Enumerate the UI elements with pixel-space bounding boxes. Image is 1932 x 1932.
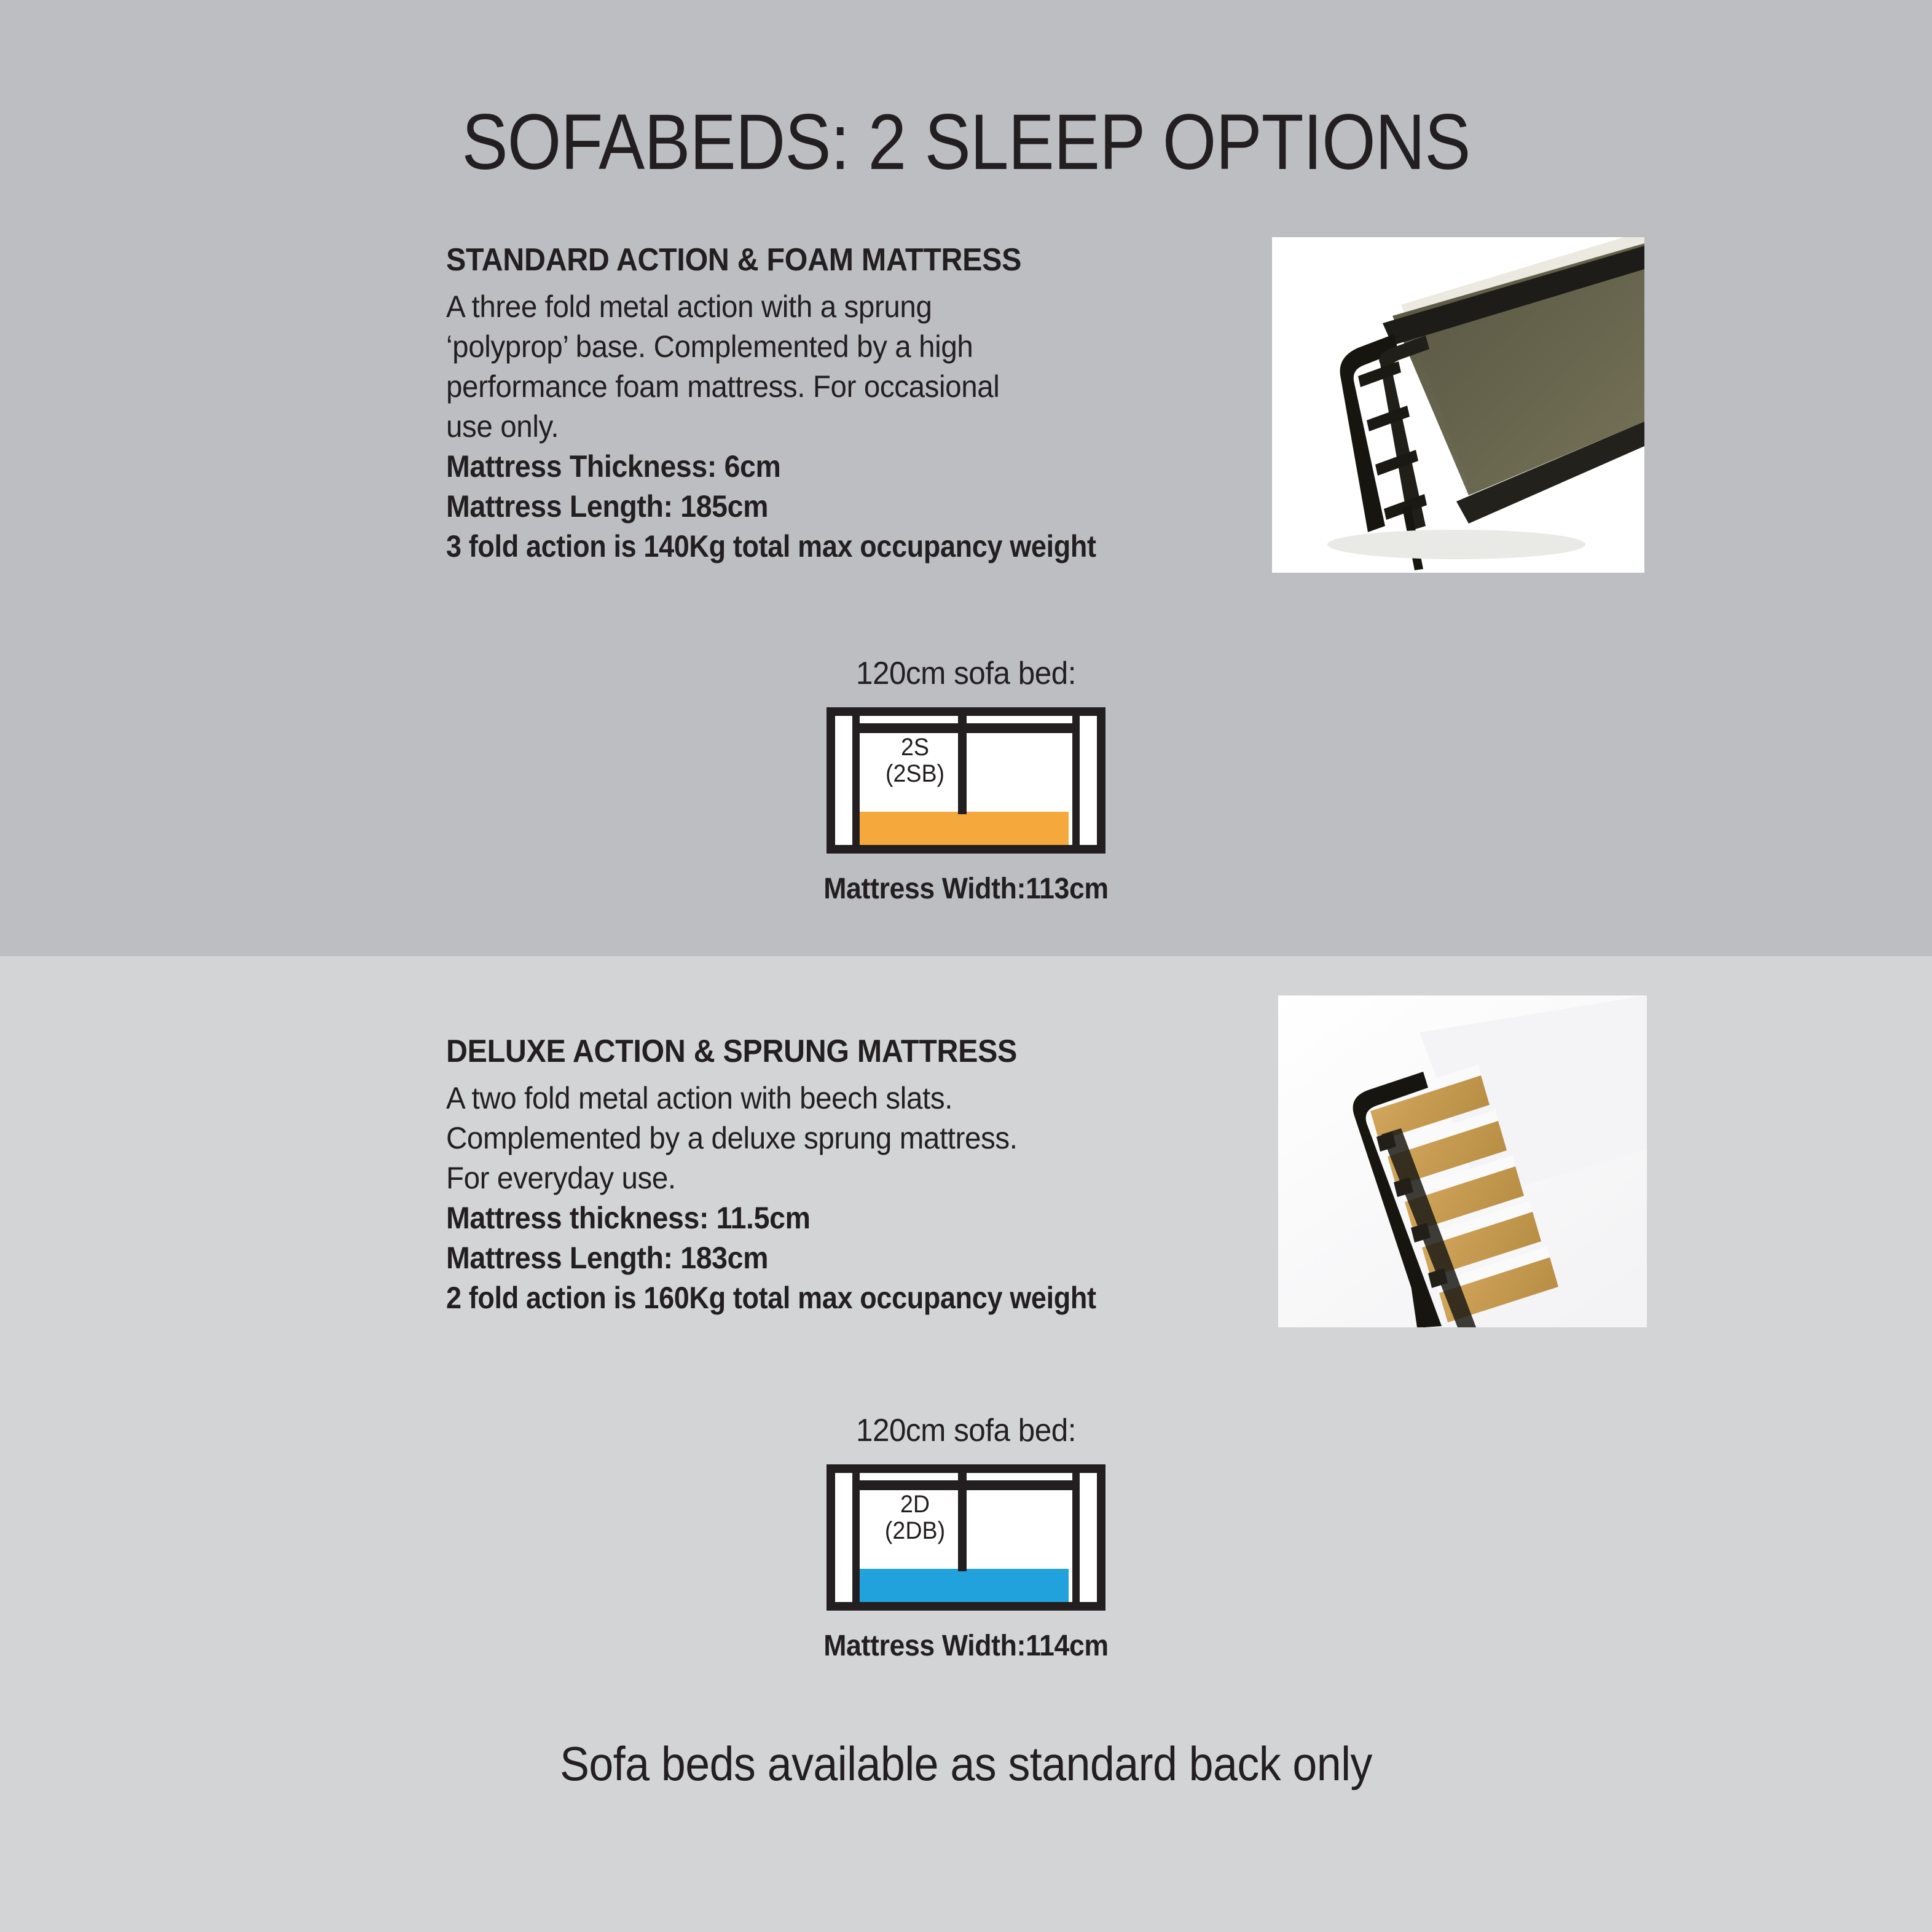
sofa-plan-deluxe: 2D (2DB)	[827, 1464, 1105, 1611]
mattress-width-label-standard: Mattress Width:113cm	[680, 872, 1252, 906]
deluxe-action-photo-illustration	[1278, 995, 1647, 1327]
section-deluxe-description: A two fold metal action with beech slats…	[446, 1078, 1223, 1198]
description-line: use only.	[446, 407, 1223, 447]
spec-mattress-length: Mattress Length: 183cm	[446, 1238, 1206, 1278]
page-title: SOFABEDS: 2 SLEEP OPTIONS	[116, 103, 1816, 182]
section-deluxe-text-block: DELUXE ACTION & SPRUNG MATTRESS A two fo…	[446, 1032, 1263, 1318]
diagram-group-standard: 120cm sofa bed: 2S	[659, 656, 1273, 906]
sofa-seat-code-standard: 2S (2SB)	[863, 734, 967, 787]
section-standard-text-block: STANDARD ACTION & FOAM MATTRESS A three …	[446, 241, 1263, 567]
seat-code-bracket: (2DB)	[863, 1518, 967, 1544]
description-line: A two fold metal action with beech slats…	[446, 1078, 1223, 1118]
footer-note: Sofa beds available as standard back onl…	[77, 1738, 1855, 1791]
sofa-plan-standard: 2S (2SB)	[827, 707, 1105, 854]
seat-code: 2D	[863, 1491, 967, 1518]
mattress-band	[856, 812, 1069, 850]
photo-standard-action	[1272, 237, 1644, 573]
section-standard-description: A three fold metal action with a sprung …	[446, 287, 1223, 447]
mattress-band	[856, 1569, 1069, 1607]
sofabed-options-infographic: SOFABEDS: 2 SLEEP OPTIONS STANDARD ACTIO…	[0, 0, 1932, 1932]
description-line: ‘polyprop’ base. Complemented by a high	[446, 327, 1223, 367]
spec-mattress-thickness: Mattress thickness: 11.5cm	[446, 1198, 1206, 1238]
mattress-width-label-deluxe: Mattress Width:114cm	[680, 1629, 1252, 1663]
diagram-size-title: 120cm sofa bed:	[674, 1413, 1258, 1448]
spec-mattress-length: Mattress Length: 185cm	[446, 487, 1206, 527]
seat-code-bracket: (2SB)	[863, 761, 967, 787]
description-line: A three fold metal action with a sprung	[446, 287, 1223, 327]
spec-max-occupancy-weight: 2 fold action is 160Kg total max occupan…	[446, 1278, 1182, 1318]
diagram-size-title: 120cm sofa bed:	[674, 656, 1258, 691]
description-line: For everyday use.	[446, 1158, 1223, 1198]
description-line: Complemented by a deluxe sprung mattress…	[446, 1118, 1223, 1158]
photo-deluxe-action	[1278, 995, 1647, 1327]
section-standard-heading: STANDARD ACTION & FOAM MATTRESS	[446, 241, 1206, 280]
diagram-group-deluxe: 120cm sofa bed: 2D (2DB) Mattress Width:…	[659, 1413, 1273, 1663]
spec-max-occupancy-weight: 3 fold action is 140Kg total max occupan…	[446, 527, 1182, 567]
description-line: performance foam mattress. For occasiona…	[446, 367, 1223, 407]
standard-action-photo-illustration	[1272, 237, 1644, 573]
spec-mattress-thickness: Mattress Thickness: 6cm	[446, 447, 1206, 487]
section-deluxe-heading: DELUXE ACTION & SPRUNG MATTRESS	[446, 1032, 1206, 1071]
seat-code: 2S	[863, 734, 967, 761]
sofa-seat-code-deluxe: 2D (2DB)	[863, 1491, 967, 1544]
